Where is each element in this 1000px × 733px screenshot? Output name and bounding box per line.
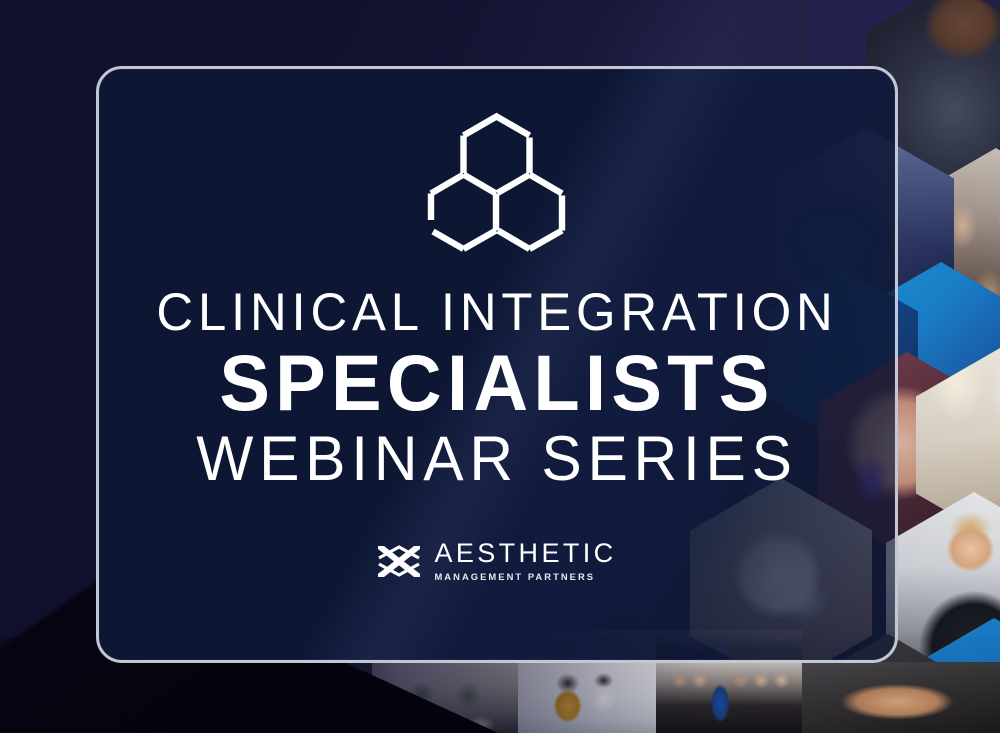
title-card-frame: CLINICAL INTEGRATION SPECIALISTS WEBINAR…: [96, 66, 898, 663]
title-block: CLINICAL INTEGRATION SPECIALISTS WEBINAR…: [99, 285, 895, 492]
brand-name: AESTHETIC: [434, 540, 616, 567]
brand-lockup: AESTHETIC MANAGEMENT PARTNERS: [377, 540, 616, 581]
brand-words: AESTHETIC MANAGEMENT PARTNERS: [434, 540, 616, 581]
title-line-3: WEBINAR SERIES: [115, 426, 879, 492]
aesthetic-management-partners-mark: [377, 544, 421, 578]
slide-canvas: CLINICAL INTEGRATION SPECIALISTS WEBINAR…: [0, 0, 1000, 733]
three-hexagon-mark: [422, 103, 572, 255]
title-line-2: SPECIALISTS: [115, 343, 879, 424]
brand-subtitle: MANAGEMENT PARTNERS: [434, 572, 616, 581]
title-line-1: CLINICAL INTEGRATION: [115, 285, 879, 341]
